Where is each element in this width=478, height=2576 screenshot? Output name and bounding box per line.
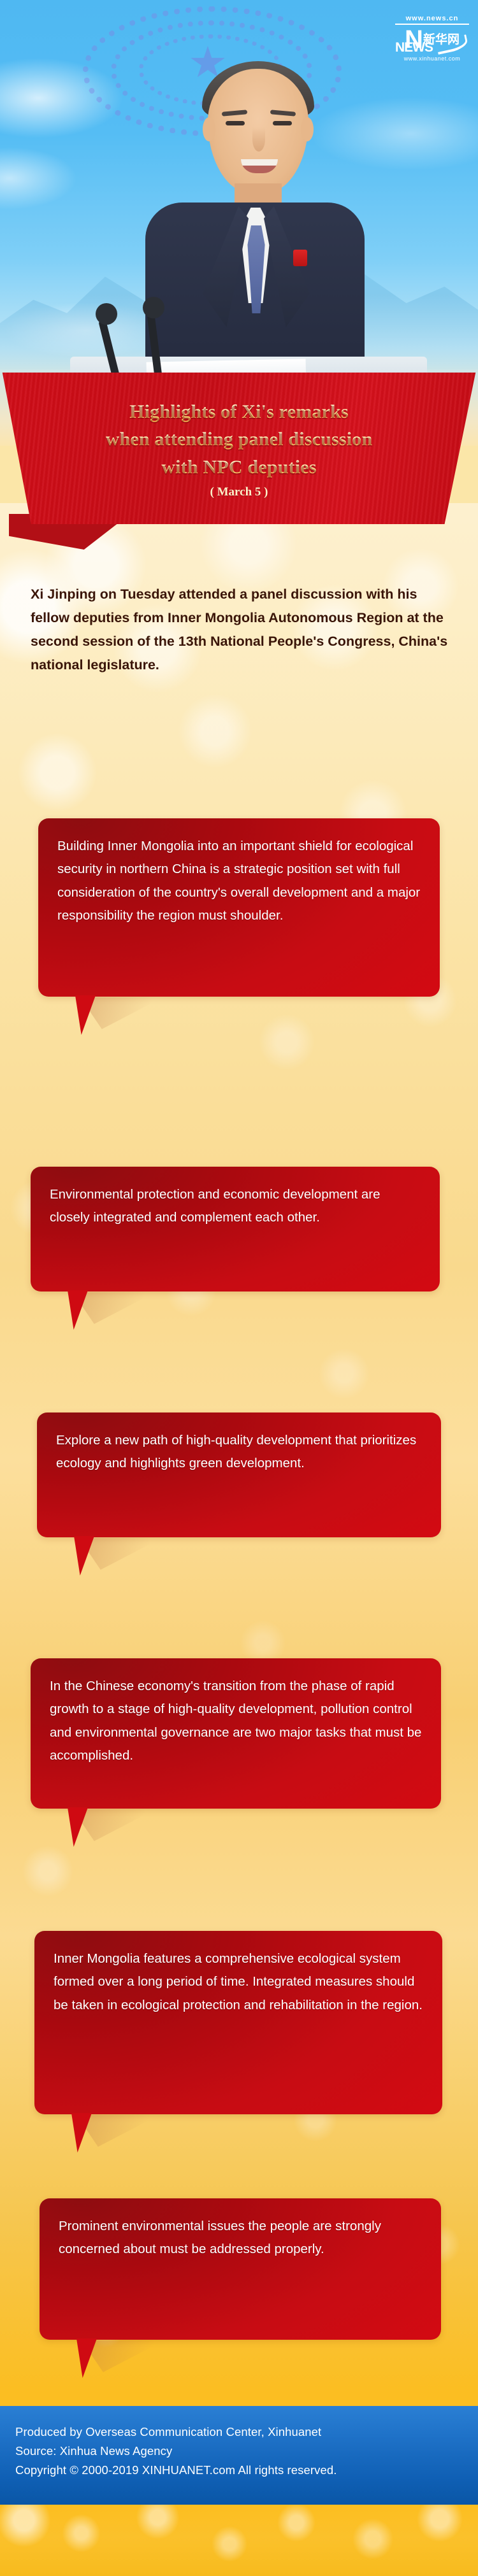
microphone-head-icon — [143, 297, 164, 318]
xinhua-logo[interactable]: www.news.cn N 新华网 NEWS www.xinhuanet.com — [395, 15, 469, 61]
quote-text: Explore a new path of high-quality devel… — [37, 1413, 441, 1490]
lapel-badge-icon — [293, 250, 307, 266]
footer-source: Source: Xinhua News Agency — [15, 2442, 478, 2461]
quote-text: In the Chinese economy's transition from… — [31, 1658, 441, 1782]
quote-card: In the Chinese economy's transition from… — [31, 1658, 441, 1809]
logo-top-url: www.news.cn — [395, 15, 469, 25]
quote-card: Inner Mongolia features a comprehensive … — [34, 1931, 442, 2114]
quote-card: Prominent environmental issues the peopl… — [40, 2198, 441, 2340]
logo-mark: N 新华网 NEWS — [395, 26, 469, 53]
infographic-page: www.news.cn N 新华网 NEWS www.xinhuanet.com… — [0, 0, 478, 2576]
footer-credits: Produced by Overseas Communication Cente… — [0, 2406, 478, 2505]
page-title-line-2: when attending panel discussion — [106, 427, 373, 451]
quote-card: Building Inner Mongolia into an importan… — [38, 818, 440, 997]
bottom-gold-strip-bokeh — [0, 2505, 478, 2576]
page-title-date: ( March 5 ) — [210, 485, 268, 499]
title-banner-wrap: Highlights of Xi's remarks when attendin… — [0, 373, 478, 557]
page-title-line-1: Highlights of Xi's remarks — [129, 400, 349, 423]
quote-card: Environmental protection and economic de… — [31, 1167, 440, 1292]
logo-bottom-url: www.xinhuanet.com — [395, 56, 469, 62]
intro-paragraph: Xi Jinping on Tuesday attended a panel d… — [31, 583, 451, 677]
title-banner: Highlights of Xi's remarks when attendin… — [0, 373, 478, 524]
footer-producer: Produced by Overseas Communication Cente… — [15, 2423, 478, 2442]
bottom-gold-strip — [0, 2505, 478, 2576]
microphone-head-icon — [96, 303, 117, 325]
quote-card: Explore a new path of high-quality devel… — [37, 1413, 441, 1537]
logo-news-word: NEWS — [395, 41, 433, 54]
quote-text: Building Inner Mongolia into an importan… — [38, 818, 440, 942]
footer-copyright: Copyright © 2000-2019 XINHUANET.com All … — [15, 2461, 478, 2480]
page-title-line-3: with NPC deputies — [161, 455, 316, 479]
quote-text: Inner Mongolia features a comprehensive … — [34, 1931, 442, 2031]
quote-text: Prominent environmental issues the peopl… — [40, 2198, 441, 2275]
quote-text: Environmental protection and economic de… — [31, 1167, 440, 1244]
